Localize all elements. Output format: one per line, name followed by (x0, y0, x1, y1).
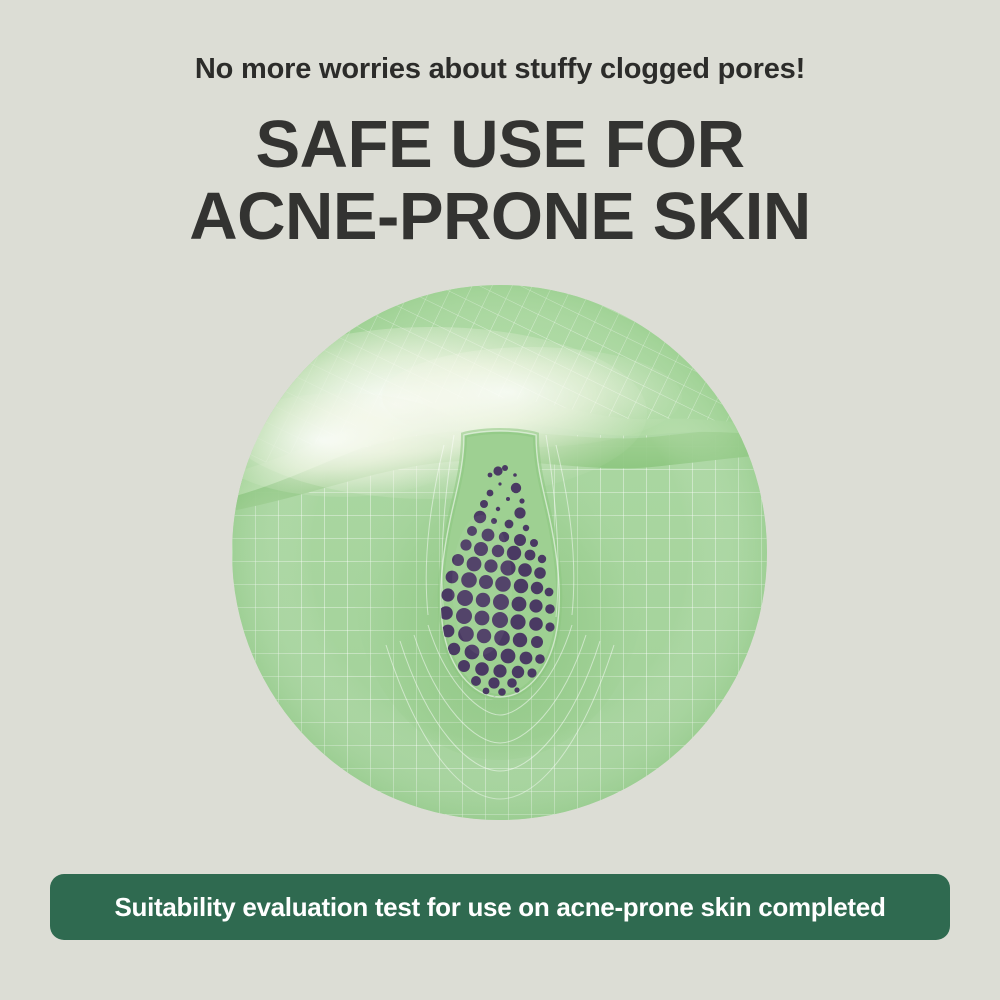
header-block: No more worries about stuffy clogged por… (0, 52, 1000, 254)
skin-cross-section-illustration (232, 285, 767, 820)
poster-root: No more worries about stuffy clogged por… (0, 0, 1000, 1000)
headline-line-2: ACNE-PRONE SKIN (0, 181, 1000, 253)
circle-vignette (232, 285, 767, 820)
illustration-content (232, 285, 767, 820)
status-banner: Suitability evaluation test for use on a… (50, 874, 950, 940)
headline-line-1: SAFE USE FOR (0, 109, 1000, 181)
status-banner-text: Suitability evaluation test for use on a… (114, 894, 885, 920)
eyebrow-text: No more worries about stuffy clogged por… (0, 52, 1000, 87)
page-title: SAFE USE FOR ACNE-PRONE SKIN (0, 109, 1000, 254)
skin-illustration-svg (232, 285, 767, 820)
